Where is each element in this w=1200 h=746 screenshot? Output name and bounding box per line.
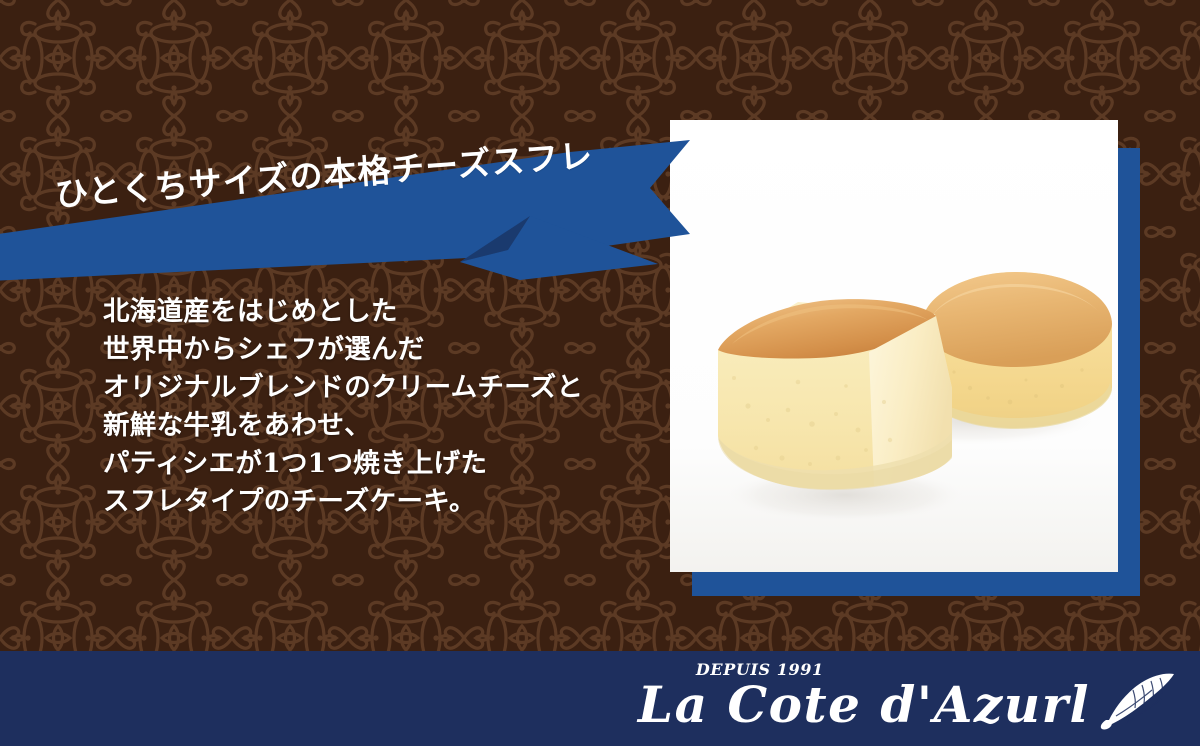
- footer-bar: DEPUIS 1991 La Cote d'Azurl: [0, 651, 1200, 746]
- brand-logo: DEPUIS 1991 La Cote d'Azurl: [638, 658, 1178, 738]
- cheesecake-front: [718, 299, 952, 490]
- poster-root: ひとくちサイズの本格チーズスフレ 北海道産をはじめとした 世界中からシェフが選ん…: [0, 0, 1200, 746]
- body-line: オリジナルブレンドのクリームチーズと: [103, 369, 583, 407]
- brand-established-label: DEPUIS 1991: [696, 660, 824, 679]
- feather-icon-glyph: [1100, 670, 1178, 732]
- body-line: 世界中からシェフが選んだ: [103, 331, 583, 369]
- brand-logo-text: DEPUIS 1991 La Cote d'Azurl: [638, 658, 1094, 738]
- body-line: パティシエが1つ1つ焼き上げた: [103, 445, 583, 483]
- product-photo: [670, 120, 1118, 572]
- body-line: スフレタイプのチーズケーキ。: [103, 483, 583, 521]
- body-line: 北海道産をはじめとした: [103, 293, 583, 331]
- body-line: 新鮮な牛乳をあわせ、: [103, 407, 583, 445]
- cheesecake-illustration: [670, 120, 1118, 572]
- product-photo-image: [670, 120, 1118, 572]
- body-copy: 北海道産をはじめとした 世界中からシェフが選んだ オリジナルブレンドのクリームチ…: [103, 293, 583, 521]
- feather-icon: [1100, 670, 1178, 732]
